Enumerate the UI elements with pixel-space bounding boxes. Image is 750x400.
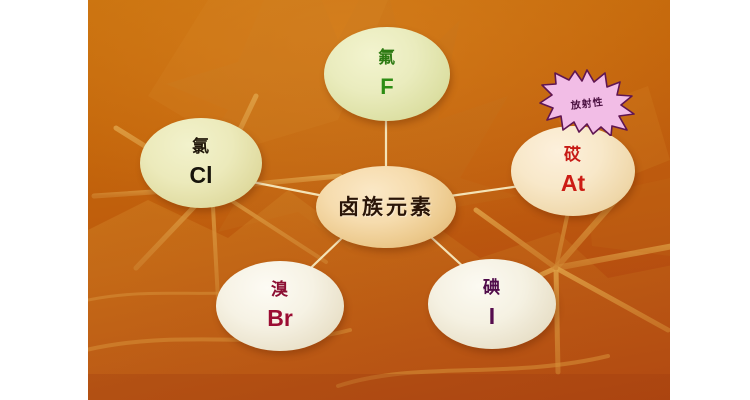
chlorine-cn-label: 氯	[192, 139, 210, 156]
center-node-label: 卤族元素	[338, 197, 434, 218]
node-iodine[interactable]: 碘 I	[428, 259, 556, 349]
node-astatine[interactable]: 砹 At	[511, 126, 635, 216]
slide-canvas: 卤族元素 氟 F 氯 Cl 砹 At 溴 Br 碘 I	[0, 0, 750, 400]
node-chlorine[interactable]: 氯 Cl	[140, 118, 262, 208]
fluorine-cn-label: 氟	[378, 50, 396, 67]
bromine-symbol-label: Br	[267, 307, 293, 330]
fluorine-symbol-label: F	[380, 76, 393, 98]
node-fluorine[interactable]: 氟 F	[324, 27, 450, 121]
chlorine-symbol-label: Cl	[190, 164, 213, 187]
iodine-symbol-label: I	[489, 305, 495, 328]
starburst-icon	[539, 68, 635, 136]
bromine-cn-label: 溴	[271, 282, 289, 299]
radioactive-badge[interactable]: 放射性	[539, 68, 635, 136]
iodine-cn-label: 碘	[483, 280, 501, 297]
letterbox-left	[0, 0, 88, 400]
letterbox-right	[670, 0, 750, 400]
slide-content-panel: 卤族元素 氟 F 氯 Cl 砹 At 溴 Br 碘 I	[88, 0, 670, 400]
node-halogen-group-center[interactable]: 卤族元素	[316, 166, 456, 248]
node-bromine[interactable]: 溴 Br	[216, 261, 344, 351]
astatine-symbol-label: At	[561, 172, 585, 195]
astatine-cn-label: 砹	[564, 147, 582, 164]
